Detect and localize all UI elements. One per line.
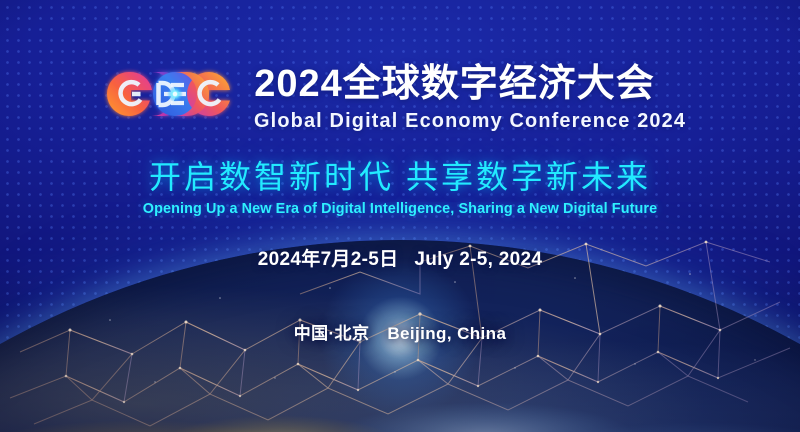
title-block: 2024全球数字经济大会 Global Digital Economy Conf… — [254, 62, 699, 133]
event-location-en: Beijing, China — [387, 324, 506, 343]
gdec-logo — [100, 65, 238, 123]
poster-header: 2024全球数字经济大会 Global Digital Economy Conf… — [0, 62, 800, 133]
event-date-en: July 2-5, 2024 — [414, 249, 542, 270]
slogan-cn: 开启数智新时代 共享数字新未来 — [0, 158, 800, 196]
event-date: 2024年7月2-5日July 2-5, 2024 — [0, 244, 800, 271]
event-date-cn: 2024年7月2-5日 — [258, 249, 399, 270]
event-location-cn: 中国·北京 — [294, 324, 370, 343]
slogan-en: Opening Up a New Era of Digital Intellig… — [16, 199, 784, 219]
conference-poster: 2024全球数字经济大会 Global Digital Economy Conf… — [0, 0, 800, 432]
page-title-cn: 2024全球数字经济大会 — [254, 62, 655, 106]
page-title-en: Global Digital Economy Conference 2024 — [254, 109, 686, 133]
gdec-logo-icon — [100, 65, 238, 123]
event-location: 中国·北京Beijing, China — [0, 319, 800, 344]
slogan-block: 开启数智新时代 共享数字新未来 Opening Up a New Era of … — [0, 158, 800, 219]
